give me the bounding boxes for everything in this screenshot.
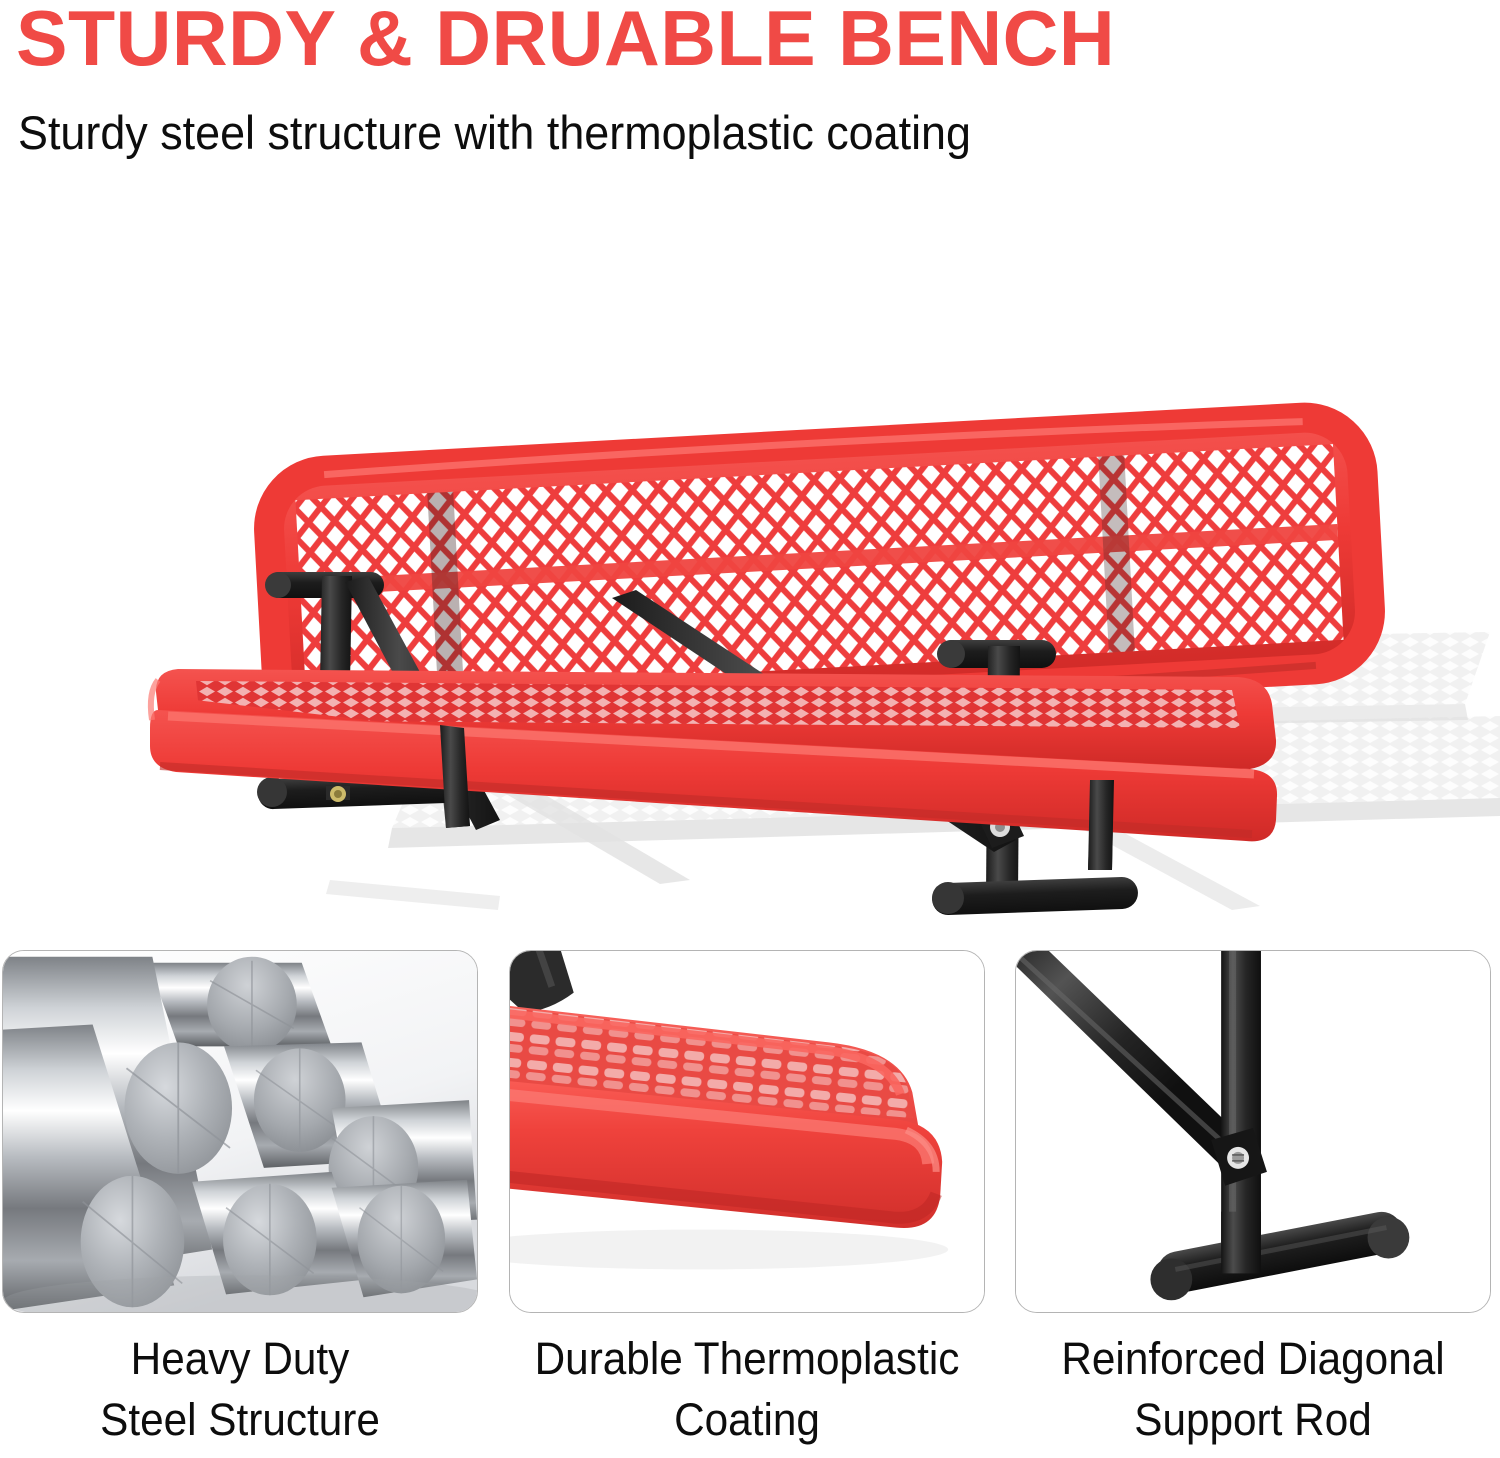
feature-card-reinforced-diagonal-support-rod [1015, 950, 1491, 1313]
feature-caption-3: Reinforced Diagonal Support Rod [1029, 1328, 1476, 1450]
feature-caption-2-line2: Coating [523, 1389, 970, 1450]
feature-card-heavy-duty-steel-structure [2, 950, 478, 1313]
feature-card-durable-thermoplastic-coating [509, 950, 985, 1313]
feature-caption-1: Heavy Duty Steel Structure [16, 1328, 463, 1450]
left-ground-anchor [326, 786, 350, 802]
feature-caption-2-line1: Durable Thermoplastic [523, 1328, 970, 1389]
page-title: STURDY & DRUABLE BENCH [16, 0, 1115, 82]
steel-rods-photo [3, 951, 477, 1312]
feature-caption-1-line1: Heavy Duty [16, 1328, 463, 1389]
hero-product-image [0, 180, 1500, 940]
feature-caption-3-line1: Reinforced Diagonal [1029, 1328, 1476, 1389]
feature-caption-3-line2: Support Rod [1029, 1389, 1476, 1450]
seat-end-closeup-photo [510, 951, 984, 1312]
feature-caption-1-line2: Steel Structure [16, 1389, 463, 1450]
diagonal-support-rod-photo [1016, 951, 1490, 1312]
steel-rod [148, 957, 331, 1053]
right-foot-bar [932, 876, 1139, 915]
feature-cards-row: Heavy Duty Steel Structure Durable Therm… [0, 950, 1500, 1458]
page-subtitle: Sturdy steel structure with thermoplasti… [18, 104, 971, 162]
feature-caption-2: Durable Thermoplastic Coating [523, 1328, 970, 1450]
